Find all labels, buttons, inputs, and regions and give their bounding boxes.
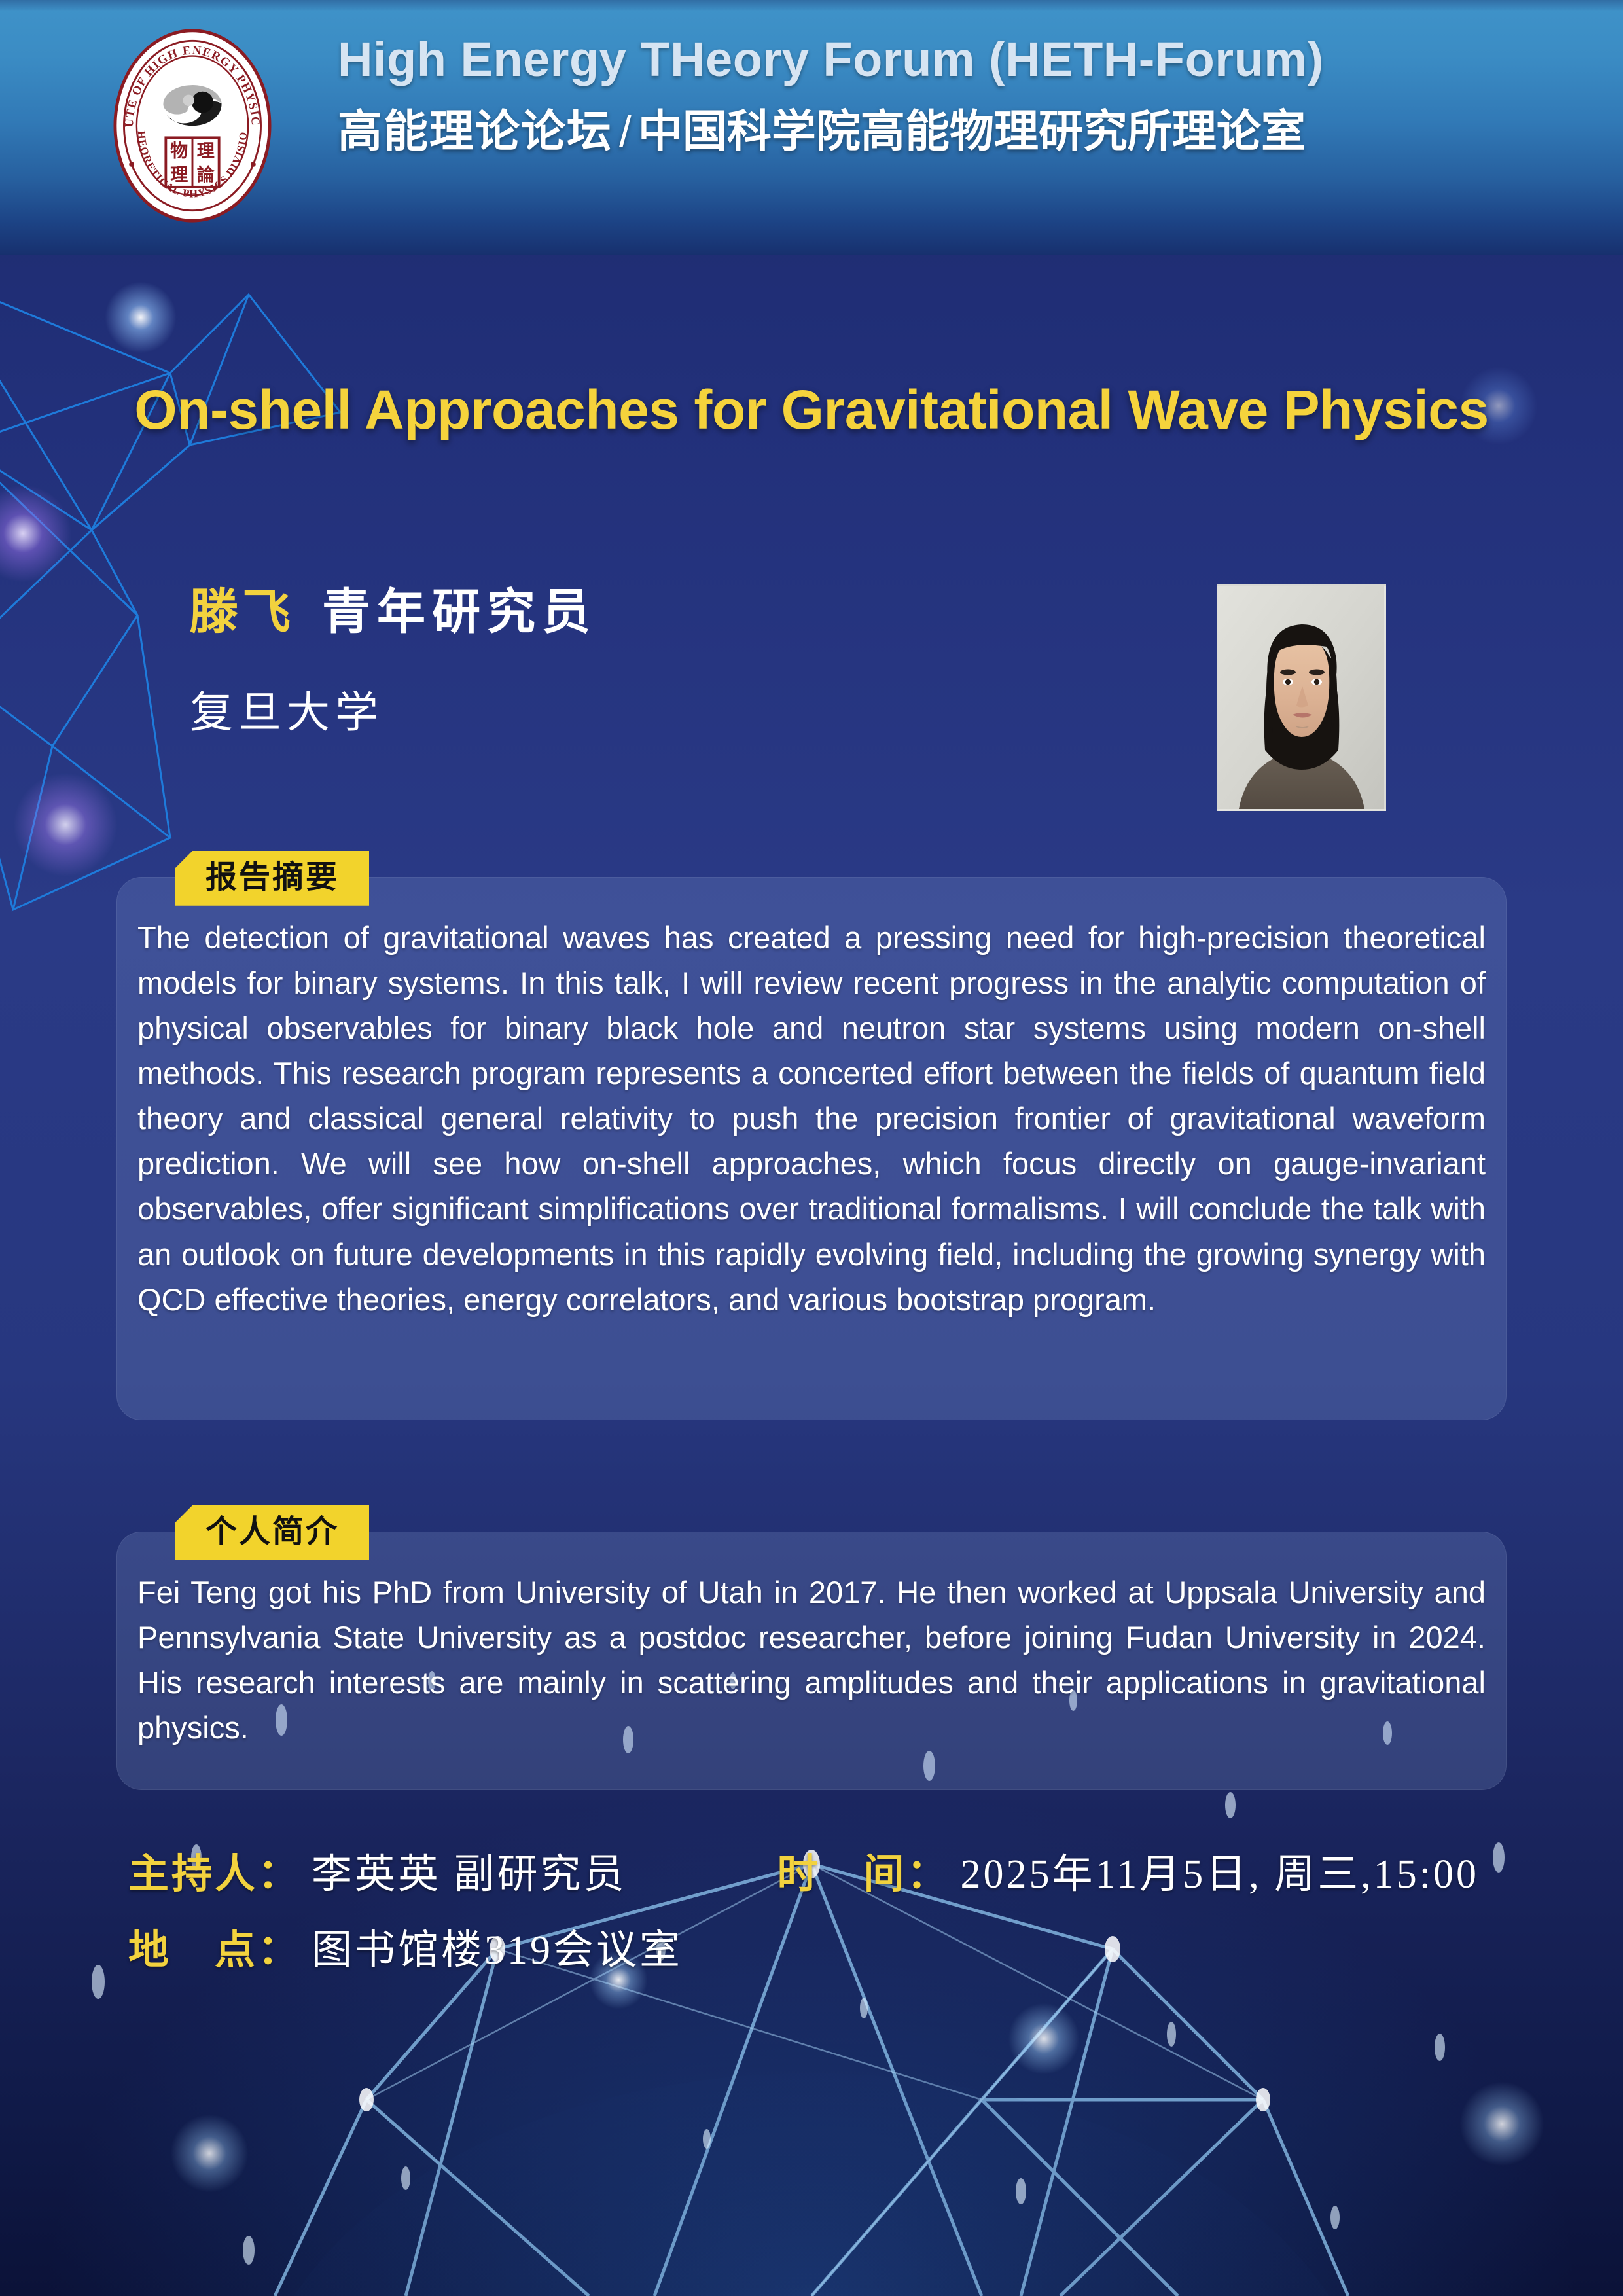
speaker-name: 滕飞	[190, 586, 294, 639]
speaker-block: 滕飞青年研究员 复旦大学	[190, 583, 597, 740]
glow-node	[0, 484, 72, 583]
svg-text:理: 理	[197, 141, 215, 160]
event-info: 主持人： 李英英 副研究员 时 间： 2025年11月5日, 周三,15:00 …	[128, 1840, 1516, 1992]
speaker-name-line: 滕飞青年研究员	[190, 583, 597, 643]
header-titles: High Energy THeory Forum (HETH-Forum) 高能…	[338, 34, 1324, 156]
info-row-place: 地 点： 图书馆楼319会议室	[128, 1916, 1516, 1975]
bio-text: Fei Teng got his PhD from University of …	[137, 1570, 1486, 1750]
seminar-poster: INSTITUTE OF HIGH ENERGY PHYSICS · CAS T…	[0, 0, 1623, 2296]
speaker-role: 青年研究员	[322, 586, 597, 639]
glow-node	[105, 281, 177, 353]
svg-text:論: 論	[197, 164, 215, 185]
bio-tag: 个人简介	[175, 1505, 369, 1560]
time-value: 2025年11月5日, 周三,15:00	[961, 1840, 1479, 1899]
poster-header: INSTITUTE OF HIGH ENERGY PHYSICS · CAS T…	[0, 0, 1623, 255]
host-label: 主持人：	[128, 1840, 301, 1899]
host-value: 李英英 副研究员	[312, 1840, 627, 1899]
glow-node	[13, 772, 118, 877]
glow-node	[170, 2114, 249, 2193]
speaker-affiliation: 复旦大学	[190, 677, 597, 740]
place-group: 地 点： 图书馆楼319会议室	[128, 1916, 683, 1975]
svg-text:物: 物	[170, 141, 188, 160]
glow-node	[1459, 2081, 1544, 2166]
place-label: 地 点：	[128, 1916, 301, 1975]
talk-title: On-shell Approaches for Gravitational Wa…	[0, 378, 1623, 442]
forum-title-en: High Energy THeory Forum (HETH-Forum)	[338, 34, 1324, 85]
place-value: 图书馆楼319会议室	[312, 1916, 683, 1975]
speaker-photo	[1217, 584, 1386, 811]
glow-node	[1008, 2003, 1080, 2075]
forum-title-cn-tail: 中国科学院高能物理研究所理论室	[638, 107, 1306, 156]
abstract-text: The detection of gravitational waves has…	[137, 915, 1486, 1322]
speaker-portrait-icon	[1219, 586, 1384, 809]
info-row-host-time: 主持人： 李英英 副研究员 时 间： 2025年11月5日, 周三,15:00	[128, 1840, 1516, 1899]
ihep-logo-icon: INSTITUTE OF HIGH ENERGY PHYSICS · CAS T…	[110, 27, 275, 224]
abstract-tag: 报告摘要	[175, 851, 369, 906]
forum-title-cn-separator: /	[619, 107, 632, 156]
host-group: 主持人： 李英英 副研究员	[128, 1840, 627, 1899]
time-group: 时 间： 2025年11月5日, 周三,15:00	[777, 1840, 1479, 1899]
svg-text:理: 理	[170, 165, 188, 185]
forum-title-cn: 高能理论论坛/中国科学院高能物理研究所理论室	[338, 107, 1324, 156]
forum-title-cn-lead: 高能理论论坛	[338, 107, 613, 156]
time-label: 时 间：	[777, 1840, 950, 1899]
